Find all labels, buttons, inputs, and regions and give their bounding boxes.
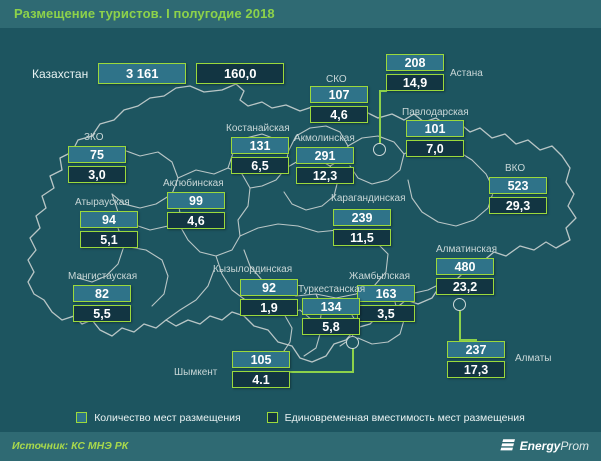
region-kostanay-label: Костанайская [226, 123, 290, 134]
city-almaty-capacity: 17,3 [447, 361, 505, 378]
region-akmola-label: Акмолинская [294, 133, 355, 144]
astana-connector-vertical [379, 90, 381, 149]
region-pavlodar-label: Павлодарская [402, 107, 469, 118]
energyprom-logo: Energy Prom [500, 438, 589, 453]
region-karaganda-capacity: 11,5 [333, 229, 391, 246]
region-mangistau-label: Мангистауская [68, 271, 137, 282]
footer-bar: Источник: КС МНЭ РК Energy Prom [0, 432, 601, 461]
region-pavlodar-capacity: 7,0 [406, 140, 464, 157]
country-places-box: 3 161 [98, 63, 186, 84]
region-aktobe-capacity: 4,6 [167, 212, 225, 229]
region-kyzylorda-label: Кызылординская [213, 264, 292, 275]
region-kyzylorda-places: 92 [240, 279, 298, 296]
region-mangistau-capacity: 5,5 [73, 305, 131, 322]
region-turkestan-places: 134 [302, 298, 360, 315]
region-almaty-oblast-capacity: 23,2 [436, 278, 494, 295]
region-sko-capacity: 4,6 [310, 106, 368, 123]
legend: Количество мест размещения Единовременна… [0, 403, 601, 432]
legend-item-places: Количество мест размещения [76, 412, 240, 424]
region-zko-capacity: 3,0 [68, 166, 126, 183]
city-almaty-places: 237 [447, 341, 505, 358]
brand-name-prom: Prom [560, 439, 589, 453]
legend-swatch-capacity-icon [267, 412, 278, 423]
almaty-connector-vertical [459, 311, 461, 341]
legend-label-capacity: Единовременная вместимость мест размещен… [285, 412, 525, 424]
region-akmola-places: 291 [296, 147, 354, 164]
shymkent-map-marker [346, 336, 359, 349]
region-atyrau-capacity: 5,1 [80, 231, 138, 248]
region-akmola-capacity: 12,3 [296, 167, 354, 184]
energyprom-bars-icon [500, 438, 516, 453]
region-turkestan-capacity: 5,8 [302, 318, 360, 335]
region-karaganda-places: 239 [333, 209, 391, 226]
region-atyrau-places: 94 [80, 211, 138, 228]
shymkent-connector-vertical [352, 347, 354, 373]
region-zko-places: 75 [68, 146, 126, 163]
region-sko-places: 107 [310, 86, 368, 103]
region-astana-places: 208 [386, 54, 444, 71]
region-turkestan-label: Туркестанская [298, 284, 365, 295]
source-note: Источник: КС МНЭ РК [12, 440, 128, 452]
brand-name-energy: Energy [520, 439, 561, 453]
region-mangistau-places: 82 [73, 285, 131, 302]
region-sko-label: СКО [326, 74, 347, 85]
country-label: Казахстан [32, 67, 88, 81]
country-capacity-box: 160,0 [196, 63, 284, 84]
region-zhambyl-capacity: 3,5 [357, 305, 415, 322]
region-atyrau-label: Атырауская [75, 197, 130, 208]
city-shymkent-capacity: 4.1 [232, 371, 290, 388]
country-total: Казахстан 3 161 160,0 [32, 63, 284, 84]
city-almaty-label: Алматы [515, 353, 552, 364]
region-almaty-oblast-label: Алматинская [436, 244, 497, 255]
region-kostanay-places: 131 [231, 137, 289, 154]
region-vko-capacity: 29,3 [489, 197, 547, 214]
region-aktobe-places: 99 [167, 192, 225, 209]
almaty-map-marker [453, 298, 466, 311]
region-kostanay-capacity: 6,5 [231, 157, 289, 174]
region-zhambyl-label: Жамбылская [349, 271, 410, 282]
region-almaty-oblast-places: 480 [436, 258, 494, 275]
region-karaganda-label: Карагандинская [331, 193, 406, 204]
title-bar: Размещение туристов. I полугодие 2018 [0, 0, 601, 28]
astana-map-marker [373, 143, 386, 156]
region-zko-label: ЗКО [84, 132, 104, 143]
legend-item-capacity: Единовременная вместимость мест размещен… [267, 412, 525, 424]
region-vko-places: 523 [489, 177, 547, 194]
city-shymkent-places: 105 [232, 351, 290, 368]
region-astana-capacity: 14,9 [386, 74, 444, 91]
infographic-root: Размещение туристов. I полугодие 2018 [0, 0, 601, 461]
page-title: Размещение туристов. I полугодие 2018 [14, 6, 275, 21]
legend-label-places: Количество мест размещения [94, 412, 240, 424]
shymkent-connector-horizontal [290, 371, 354, 373]
city-shymkent-label: Шымкент [174, 367, 217, 378]
region-vko-label: ВКО [505, 163, 525, 174]
region-kyzylorda-capacity: 1,9 [240, 299, 298, 316]
region-zhambyl-places: 163 [357, 285, 415, 302]
region-pavlodar-places: 101 [406, 120, 464, 137]
region-astana-label: Астана [450, 68, 483, 79]
region-aktobe-label: Актюбинская [163, 178, 224, 189]
legend-swatch-places-icon [76, 412, 87, 423]
